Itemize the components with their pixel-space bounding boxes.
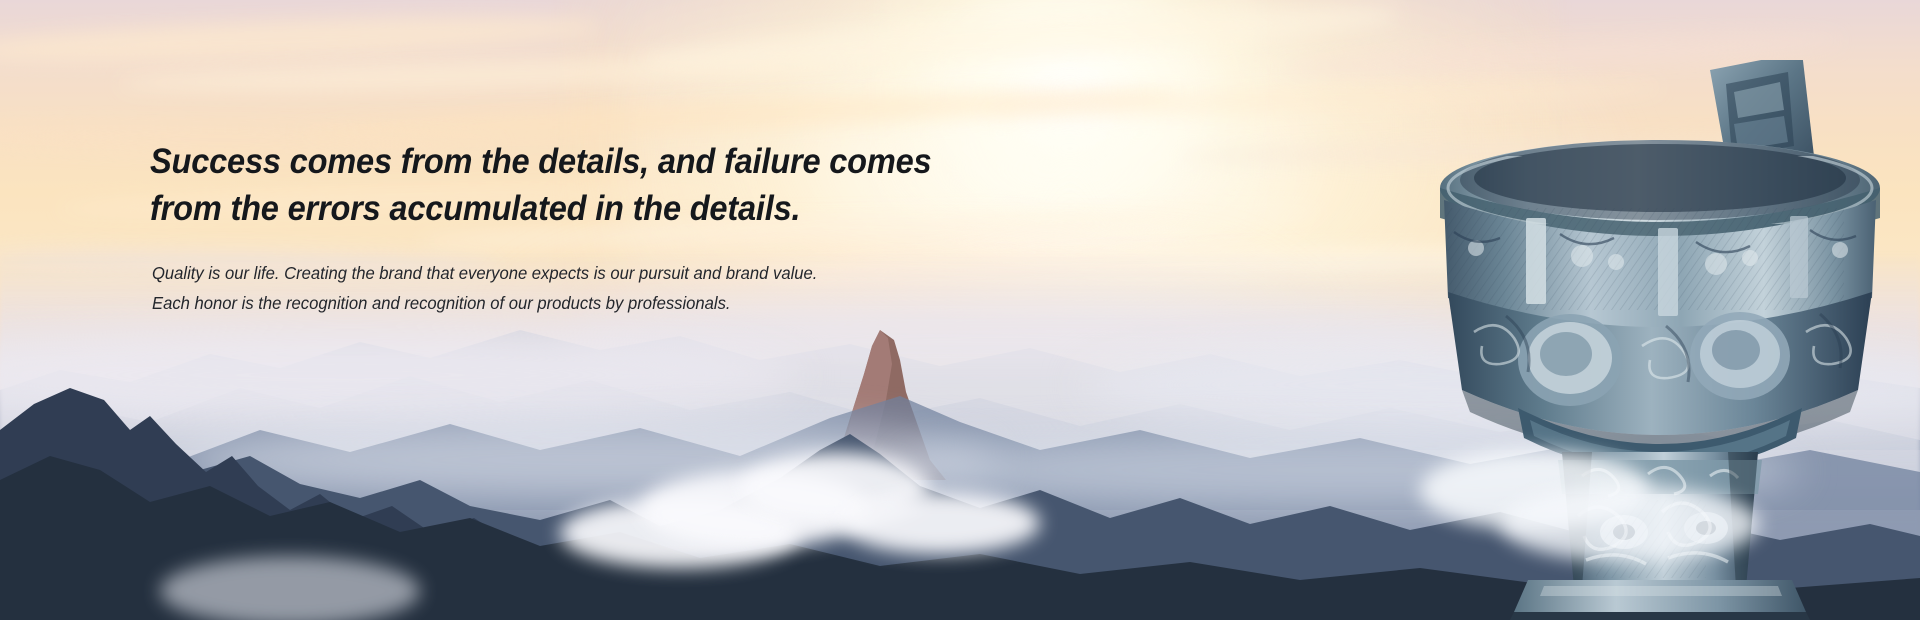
banner-copy: Success comes from the details, and fail…: [150, 138, 1050, 318]
subtitle-line-2: Each honor is the recognition and recogn…: [152, 288, 1005, 318]
headline-line-1: Success comes from the details, and fail…: [150, 138, 987, 185]
low-cloud-puff: [1500, 486, 1760, 562]
hero-banner: Success comes from the details, and fail…: [0, 0, 1920, 620]
low-cloud-puff: [160, 556, 420, 620]
subtitle-line-1: Quality is our life. Creating the brand …: [152, 258, 1005, 288]
page-title: Success comes from the details, and fail…: [150, 138, 987, 232]
banner-subtitle: Quality is our life. Creating the brand …: [152, 258, 1005, 318]
low-cloud-puff: [840, 492, 1040, 554]
headline-line-2: from the errors accumulated in the detai…: [150, 185, 987, 232]
